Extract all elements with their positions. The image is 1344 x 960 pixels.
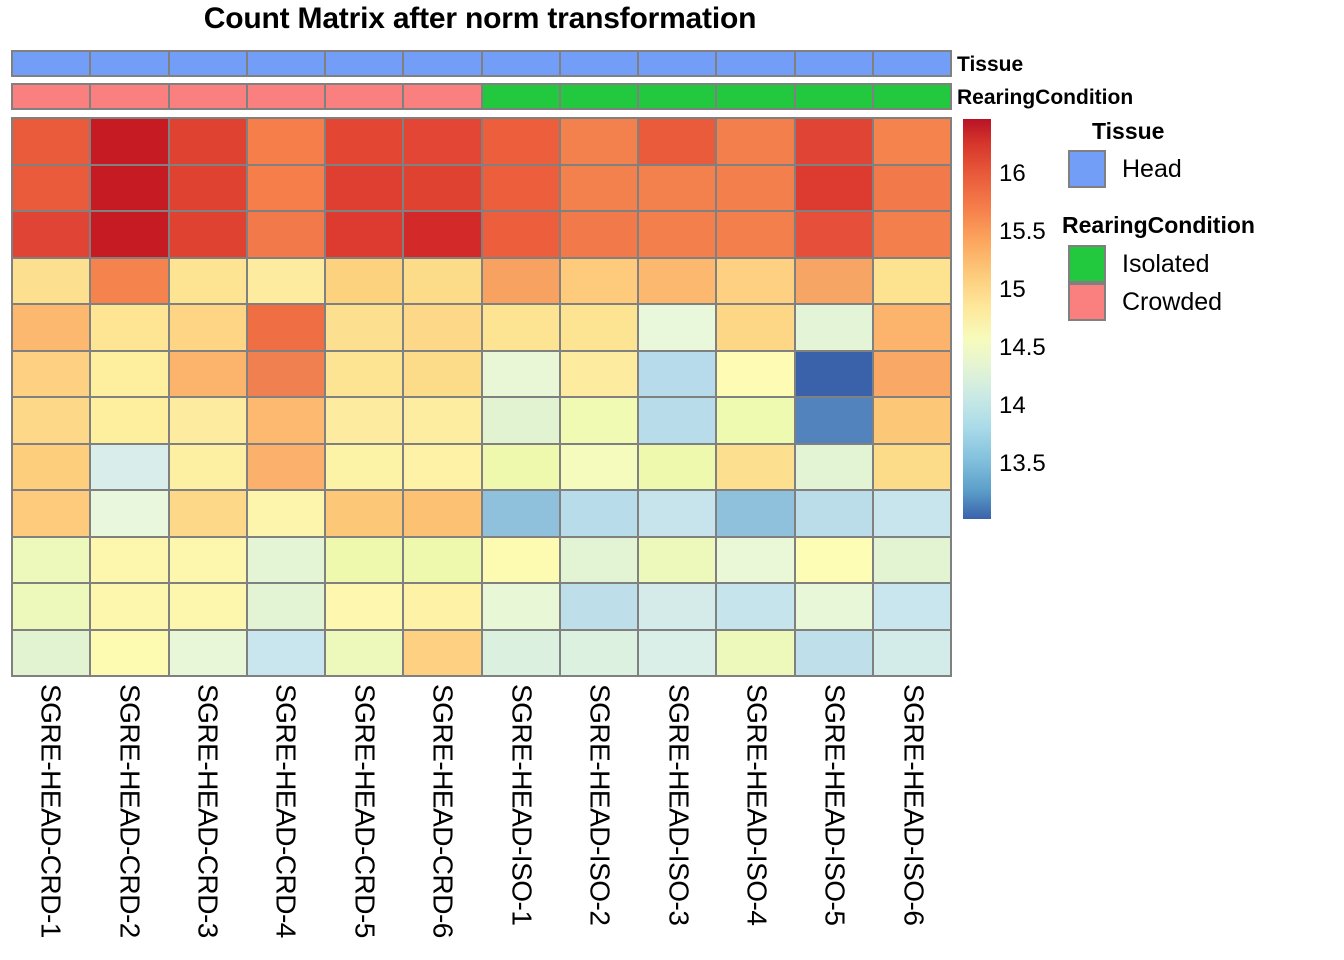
annotation-rearing-cell bbox=[248, 85, 324, 108]
heatmap-cell bbox=[796, 398, 872, 443]
x-axis-tick-label: SGRE-HEAD-CRD-2 bbox=[113, 684, 145, 938]
heatmap-cell bbox=[561, 631, 637, 676]
annotation-rearing-cell bbox=[326, 85, 402, 108]
heatmap-cell bbox=[639, 212, 715, 257]
heatmap-cell bbox=[796, 212, 872, 257]
heatmap-cell bbox=[561, 491, 637, 536]
x-axis-tick-slot: SGRE-HEAD-ISO-3 bbox=[638, 680, 716, 955]
legend-item-head[interactable]: Head bbox=[1068, 150, 1182, 188]
x-axis-tick-label: SGRE-HEAD-CRD-3 bbox=[192, 684, 224, 938]
page-title: Count Matrix after norm transformation bbox=[0, 2, 960, 36]
heatmap-cell bbox=[404, 166, 480, 211]
x-axis-tick-slot: SGRE-HEAD-ISO-5 bbox=[795, 680, 873, 955]
heatmap-cell bbox=[91, 631, 167, 676]
heatmap-cell bbox=[483, 259, 559, 304]
heatmap-cell bbox=[13, 631, 89, 676]
heatmap-cell bbox=[248, 305, 324, 350]
heatmap-cell bbox=[639, 538, 715, 583]
heatmap-cell bbox=[404, 259, 480, 304]
heatmap-cell bbox=[326, 212, 402, 257]
heatmap-cell bbox=[248, 491, 324, 536]
annotation-rearing-cell bbox=[483, 85, 559, 108]
heatmap-cell bbox=[639, 259, 715, 304]
legend-item-crowded[interactable]: Crowded bbox=[1068, 283, 1222, 321]
heatmap-cell bbox=[91, 352, 167, 397]
heatmap-cell bbox=[170, 398, 246, 443]
annotation-tissue-cell bbox=[483, 52, 559, 75]
heatmap-cell bbox=[326, 259, 402, 304]
heatmap-cell bbox=[483, 398, 559, 443]
heatmap-cell bbox=[404, 119, 480, 164]
annotation-tissue-cell bbox=[404, 52, 480, 75]
heatmap-cell bbox=[404, 398, 480, 443]
heatmap-cell bbox=[483, 166, 559, 211]
colorbar-tick-label: 14 bbox=[999, 392, 1026, 420]
heatmap-cell bbox=[874, 491, 950, 536]
heatmap-cell bbox=[248, 212, 324, 257]
heatmap-cell bbox=[170, 212, 246, 257]
x-axis-tick-slot: SGRE-HEAD-CRD-1 bbox=[11, 680, 89, 955]
heatmap-cell bbox=[13, 352, 89, 397]
heatmap-cell bbox=[639, 491, 715, 536]
x-axis-tick-label: SGRE-HEAD-CRD-5 bbox=[348, 684, 380, 938]
x-axis-tick-label: SGRE-HEAD-ISO-3 bbox=[662, 684, 694, 925]
heatmap-cell bbox=[248, 398, 324, 443]
heatmap-cell bbox=[639, 445, 715, 490]
heatmap-cell bbox=[13, 259, 89, 304]
heatmap-cell bbox=[796, 119, 872, 164]
heatmap-cell bbox=[874, 631, 950, 676]
heatmap-cell bbox=[91, 166, 167, 211]
heatmap-cell bbox=[796, 305, 872, 350]
heatmap-cell bbox=[483, 584, 559, 629]
x-axis-tick-label: SGRE-HEAD-CRD-6 bbox=[427, 684, 459, 938]
heatmap-cell bbox=[717, 445, 793, 490]
heatmap-cell bbox=[170, 445, 246, 490]
annotation-tissue-cell bbox=[248, 52, 324, 75]
heatmap-cell bbox=[326, 305, 402, 350]
heatmap-cell bbox=[874, 538, 950, 583]
colorbar-tick-label: 14.5 bbox=[999, 334, 1046, 362]
x-axis-tick-label: SGRE-HEAD-ISO-6 bbox=[897, 684, 929, 925]
x-axis-tick-label: SGRE-HEAD-ISO-4 bbox=[741, 684, 773, 925]
heatmap-cell bbox=[717, 631, 793, 676]
heatmap-cell bbox=[483, 305, 559, 350]
heatmap-cell bbox=[639, 398, 715, 443]
heatmap-cell bbox=[561, 305, 637, 350]
heatmap-cell bbox=[404, 538, 480, 583]
x-axis-tick-label: SGRE-HEAD-CRD-1 bbox=[35, 684, 67, 938]
legend-swatch-crowded bbox=[1068, 283, 1106, 321]
annotation-rearing-cell bbox=[639, 85, 715, 108]
annotation-tissue-cell bbox=[326, 52, 402, 75]
heatmap-cell bbox=[170, 352, 246, 397]
heatmap-cell bbox=[717, 538, 793, 583]
heatmap-cell bbox=[248, 352, 324, 397]
heatmap-cell bbox=[717, 398, 793, 443]
annotation-rearing-cell bbox=[13, 85, 89, 108]
colorbar-tick-label: 15 bbox=[999, 276, 1026, 304]
heatmap-cell bbox=[91, 445, 167, 490]
heatmap-cell bbox=[91, 212, 167, 257]
heatmap-cell bbox=[717, 584, 793, 629]
colorbar-tick-label: 16 bbox=[999, 160, 1026, 188]
annotation-rearing-cell bbox=[404, 85, 480, 108]
heatmap-cell bbox=[13, 445, 89, 490]
legend-label-isolated: Isolated bbox=[1122, 250, 1210, 279]
annotation-tissue-cell bbox=[91, 52, 167, 75]
heatmap-cell bbox=[483, 119, 559, 164]
heatmap-cell bbox=[13, 119, 89, 164]
heatmap-cell bbox=[483, 445, 559, 490]
heatmap-cell bbox=[13, 584, 89, 629]
legend-swatch-head bbox=[1068, 150, 1106, 188]
legend-label-crowded: Crowded bbox=[1122, 288, 1222, 317]
x-axis-tick-slot: SGRE-HEAD-ISO-1 bbox=[481, 680, 559, 955]
heatmap-cell bbox=[404, 212, 480, 257]
x-axis-tick-slot: SGRE-HEAD-CRD-5 bbox=[325, 680, 403, 955]
heatmap-cell bbox=[717, 166, 793, 211]
annotation-tissue-cell bbox=[639, 52, 715, 75]
heatmap-cell bbox=[326, 398, 402, 443]
x-axis-tick-slot: SGRE-HEAD-ISO-6 bbox=[874, 680, 952, 955]
x-axis-tick-slot: SGRE-HEAD-CRD-3 bbox=[168, 680, 246, 955]
heatmap-cell bbox=[874, 212, 950, 257]
heatmap-figure: Count Matrix after norm transformation T… bbox=[0, 0, 1344, 960]
x-axis-tick-label: SGRE-HEAD-ISO-5 bbox=[819, 684, 851, 925]
heatmap-cell bbox=[404, 352, 480, 397]
heatmap-cell bbox=[13, 538, 89, 583]
heatmap-cell bbox=[404, 491, 480, 536]
x-axis-tick-label: SGRE-HEAD-CRD-4 bbox=[270, 684, 302, 938]
heatmap-cell bbox=[13, 398, 89, 443]
heatmap-cell bbox=[326, 491, 402, 536]
heatmap-cell bbox=[91, 491, 167, 536]
heatmap-cell bbox=[796, 631, 872, 676]
annotation-label-tissue: Tissue bbox=[957, 53, 1023, 77]
heatmap-cell bbox=[248, 166, 324, 211]
colorbar-tick-label: 13.5 bbox=[999, 450, 1046, 478]
heatmap-cell bbox=[248, 584, 324, 629]
heatmap-cell bbox=[170, 538, 246, 583]
heatmap-cell bbox=[874, 398, 950, 443]
heatmap-cell bbox=[326, 445, 402, 490]
x-axis-tick-slot: SGRE-HEAD-CRD-6 bbox=[403, 680, 481, 955]
heatmap-cell bbox=[248, 538, 324, 583]
heatmap-cell bbox=[717, 259, 793, 304]
heatmap-cell bbox=[170, 491, 246, 536]
heatmap-cell bbox=[170, 119, 246, 164]
annotation-rearing-cell bbox=[170, 85, 246, 108]
heatmap-cell bbox=[326, 538, 402, 583]
annotation-rearing-cell bbox=[874, 85, 950, 108]
heatmap-cell bbox=[561, 538, 637, 583]
annotation-rearing-cell bbox=[91, 85, 167, 108]
annotation-tissue-cell bbox=[796, 52, 872, 75]
heatmap-cell bbox=[561, 584, 637, 629]
heatmap-cell bbox=[561, 212, 637, 257]
x-axis-tick-label: SGRE-HEAD-ISO-1 bbox=[505, 684, 537, 925]
legend-title-rearing-condition: RearingCondition bbox=[1062, 212, 1255, 239]
heatmap-cell bbox=[248, 631, 324, 676]
heatmap-cell bbox=[639, 631, 715, 676]
heatmap-cell bbox=[561, 119, 637, 164]
heatmap-cell bbox=[796, 538, 872, 583]
legend-label-head: Head bbox=[1122, 155, 1182, 184]
heatmap-cell bbox=[91, 538, 167, 583]
heatmap-cell bbox=[796, 166, 872, 211]
heatmap-cell bbox=[639, 166, 715, 211]
heatmap-cell bbox=[13, 305, 89, 350]
heatmap-cell bbox=[561, 352, 637, 397]
heatmap-cell bbox=[717, 305, 793, 350]
heatmap-cell bbox=[717, 212, 793, 257]
x-axis-tick-label: SGRE-HEAD-ISO-2 bbox=[584, 684, 616, 925]
annotation-bar-tissue bbox=[11, 50, 952, 77]
heatmap-cell bbox=[13, 491, 89, 536]
heatmap-cell bbox=[404, 305, 480, 350]
heatmap-cell bbox=[326, 119, 402, 164]
heatmap-cell bbox=[874, 166, 950, 211]
heatmap-cell bbox=[404, 445, 480, 490]
x-axis-tick-slot: SGRE-HEAD-CRD-2 bbox=[89, 680, 167, 955]
heatmap-cell bbox=[91, 584, 167, 629]
heatmap-cell bbox=[874, 352, 950, 397]
heatmap-cell bbox=[717, 352, 793, 397]
annotation-label-rearing-condition: RearingCondition bbox=[957, 86, 1133, 110]
heatmap-cell bbox=[91, 305, 167, 350]
heatmap-cell bbox=[796, 445, 872, 490]
heatmap-cell bbox=[483, 631, 559, 676]
heatmap-cell bbox=[170, 584, 246, 629]
heatmap-cell bbox=[639, 352, 715, 397]
heatmap-cell bbox=[170, 305, 246, 350]
heatmap-cell bbox=[639, 119, 715, 164]
heatmap-cell bbox=[170, 259, 246, 304]
annotation-tissue-cell bbox=[717, 52, 793, 75]
heatmap-cell bbox=[796, 259, 872, 304]
heatmap-cell bbox=[170, 166, 246, 211]
annotation-tissue-cell bbox=[13, 52, 89, 75]
heatmap-cell bbox=[404, 631, 480, 676]
annotation-rearing-cell bbox=[717, 85, 793, 108]
heatmap-cell bbox=[796, 491, 872, 536]
annotation-rearing-cell bbox=[561, 85, 637, 108]
heatmap-cell bbox=[639, 584, 715, 629]
heatmap-grid bbox=[11, 117, 952, 677]
legend-title-tissue: Tissue bbox=[1092, 118, 1164, 145]
annotation-rearing-cell bbox=[796, 85, 872, 108]
heatmap-cell bbox=[248, 119, 324, 164]
heatmap-cell bbox=[874, 305, 950, 350]
annotation-tissue-cell bbox=[874, 52, 950, 75]
heatmap-cell bbox=[796, 352, 872, 397]
x-axis-tick-slot: SGRE-HEAD-ISO-2 bbox=[560, 680, 638, 955]
x-axis-tick-labels: SGRE-HEAD-CRD-1SGRE-HEAD-CRD-2SGRE-HEAD-… bbox=[11, 680, 952, 955]
heatmap-cell bbox=[326, 166, 402, 211]
annotation-tissue-cell bbox=[561, 52, 637, 75]
legend-swatch-isolated bbox=[1068, 245, 1106, 283]
heatmap-cell bbox=[483, 538, 559, 583]
heatmap-cell bbox=[326, 631, 402, 676]
heatmap-cell bbox=[874, 584, 950, 629]
heatmap-cell bbox=[796, 584, 872, 629]
legend-item-isolated[interactable]: Isolated bbox=[1068, 245, 1210, 283]
heatmap-cell bbox=[483, 491, 559, 536]
heatmap-cell bbox=[483, 352, 559, 397]
colorbar-tick-label: 15.5 bbox=[999, 218, 1046, 246]
heatmap-cell bbox=[91, 119, 167, 164]
heatmap-cell bbox=[717, 491, 793, 536]
heatmap-cell bbox=[561, 166, 637, 211]
heatmap-cell bbox=[248, 445, 324, 490]
heatmap-cell bbox=[717, 119, 793, 164]
annotation-tissue-cell bbox=[170, 52, 246, 75]
heatmap-cell bbox=[91, 259, 167, 304]
heatmap-cell bbox=[248, 259, 324, 304]
x-axis-tick-slot: SGRE-HEAD-CRD-4 bbox=[246, 680, 324, 955]
colorbar-gradient bbox=[963, 119, 991, 519]
heatmap-cell bbox=[561, 445, 637, 490]
heatmap-cell bbox=[326, 352, 402, 397]
heatmap-cell bbox=[404, 584, 480, 629]
heatmap-cell bbox=[561, 259, 637, 304]
heatmap-cell bbox=[13, 166, 89, 211]
heatmap-cell bbox=[326, 584, 402, 629]
heatmap-cell bbox=[483, 212, 559, 257]
heatmap-cell bbox=[639, 305, 715, 350]
heatmap-cell bbox=[561, 398, 637, 443]
heatmap-cell bbox=[874, 445, 950, 490]
annotation-bar-rearing-condition bbox=[11, 83, 952, 110]
heatmap-cell bbox=[13, 212, 89, 257]
x-axis-tick-slot: SGRE-HEAD-ISO-4 bbox=[717, 680, 795, 955]
heatmap-cell bbox=[170, 631, 246, 676]
heatmap-cell bbox=[874, 259, 950, 304]
heatmap-cell bbox=[874, 119, 950, 164]
heatmap-cell bbox=[91, 398, 167, 443]
